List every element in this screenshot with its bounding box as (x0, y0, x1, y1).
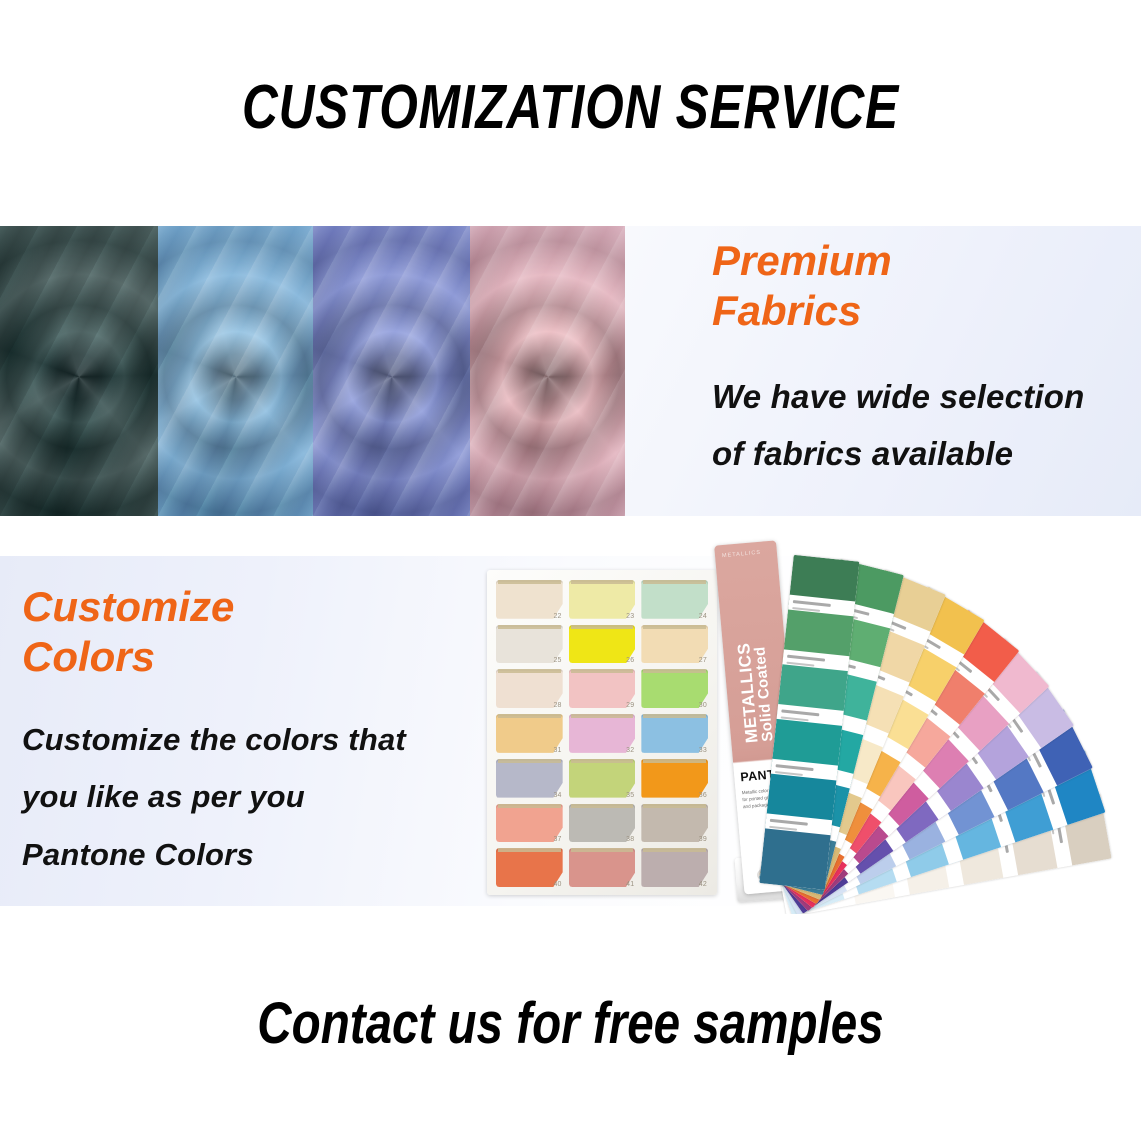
swatch-chip-tab (571, 759, 634, 763)
swatch-chip: 31 (496, 714, 563, 753)
swatch-chip: 35 (569, 759, 636, 798)
swatch-chip: 41 (569, 848, 636, 887)
fabric-swatch-periwinkle (313, 226, 470, 516)
color-swatch-card: 2223242526272829303132333435363738394041… (487, 570, 717, 895)
premium-fabrics-body-line1: We have wide selection (712, 369, 1132, 426)
swatch-chip-tab (498, 714, 561, 718)
swatch-chip: 30 (641, 669, 708, 708)
swatch-chip-tab (498, 759, 561, 763)
swatch-chip-tab (498, 804, 561, 808)
swatch-chip: 42 (641, 848, 708, 887)
swatch-chip: 37 (496, 804, 563, 843)
swatch-chip: 39 (641, 804, 708, 843)
swatch-chip-number: 37 (553, 836, 561, 842)
swatch-chip-tab (498, 669, 561, 673)
swatch-chip-tab (571, 669, 634, 673)
swatch-chip-number: 26 (626, 657, 634, 663)
swatch-chip-number: 29 (626, 702, 634, 708)
swatch-chip-tab (571, 804, 634, 808)
premium-fabrics-body-line2: of fabrics available (712, 426, 1132, 483)
swatch-chip-number: 25 (553, 657, 561, 663)
fabric-swatch-strip (0, 226, 625, 516)
swatch-chip-tab (643, 669, 706, 673)
customize-colors-heading: Customize Colors (22, 582, 492, 681)
customize-colors-heading-line2: Colors (22, 632, 492, 682)
fabric-swatch-pink (470, 226, 625, 516)
pantone-fan-deck: METALLICS METALLICS Solid Coated PANTONE… (700, 534, 1141, 914)
customize-colors-copy: Customize Colors Customize the colors th… (22, 582, 492, 883)
swatch-chip-number: 34 (553, 792, 561, 798)
premium-fabrics-section: Premium Fabrics We have wide selection o… (0, 226, 1141, 516)
swatch-chip-tab (498, 580, 561, 584)
swatch-chip-number: 28 (553, 702, 561, 708)
swatch-chip: 29 (569, 669, 636, 708)
swatch-chip-tab (643, 759, 706, 763)
swatch-chip: 26 (569, 625, 636, 664)
customize-colors-body: Customize the colors that you like as pe… (22, 711, 492, 883)
fan-deck-color-strip (759, 828, 830, 890)
swatch-chip-tab (643, 804, 706, 808)
fabric-swatch-dark-teal (0, 226, 158, 516)
swatch-chip-number: 41 (626, 881, 634, 887)
swatch-chip: 34 (496, 759, 563, 798)
swatch-chip: 23 (569, 580, 636, 619)
customize-colors-body-line3: Pantone Colors (22, 826, 492, 883)
customize-colors-heading-line1: Customize (22, 582, 492, 632)
swatch-chip-grid: 2223242526272829303132333435363738394041… (496, 580, 708, 887)
swatch-chip-number: 22 (553, 613, 561, 619)
swatch-chip-tab (498, 848, 561, 852)
swatch-chip: 25 (496, 625, 563, 664)
swatch-chip-tab (571, 714, 634, 718)
swatch-chip-number: 35 (626, 792, 634, 798)
swatch-chip-tab (498, 625, 561, 629)
swatch-chip: 22 (496, 580, 563, 619)
premium-fabrics-heading: Premium Fabrics (712, 236, 1132, 335)
swatch-chip-number: 38 (626, 836, 634, 842)
cover-top-label: METALLICS (722, 550, 762, 559)
swatch-chip-tab (643, 580, 706, 584)
swatch-chip: 32 (569, 714, 636, 753)
page-title: CUSTOMIZATION SERVICE (114, 72, 1027, 143)
swatch-chip-number: 32 (626, 747, 634, 753)
footer-cta: Contact us for free samples (103, 990, 1039, 1057)
promo-banner: CUSTOMIZATION SERVICE Premium Fabrics W (0, 0, 1141, 1142)
premium-fabrics-heading-line1: Premium (712, 236, 1132, 286)
swatch-chip-tab (643, 625, 706, 629)
swatch-chip-tab (643, 848, 706, 852)
swatch-chip: 24 (641, 580, 708, 619)
swatch-chip: 36 (641, 759, 708, 798)
swatch-chip-number: 31 (553, 747, 561, 753)
swatch-chip: 40 (496, 848, 563, 887)
swatch-chip-number: 23 (626, 613, 634, 619)
swatch-chip: 33 (641, 714, 708, 753)
premium-fabrics-body: We have wide selection of fabrics availa… (712, 369, 1132, 483)
swatch-chip: 38 (569, 804, 636, 843)
swatch-chip-tab (643, 714, 706, 718)
swatch-chip: 28 (496, 669, 563, 708)
customize-colors-body-line2: you like as per you (22, 768, 492, 825)
swatch-chip: 27 (641, 625, 708, 664)
fabric-swatch-light-blue (158, 226, 313, 516)
premium-fabrics-copy: Premium Fabrics We have wide selection o… (712, 236, 1132, 483)
swatch-chip-tab (571, 580, 634, 584)
swatch-chip-number: 40 (553, 881, 561, 887)
swatch-chip-tab (571, 625, 634, 629)
cover-vertical-title: METALLICS Solid Coated (731, 591, 777, 743)
swatch-chip-tab (571, 848, 634, 852)
premium-fabrics-heading-line2: Fabrics (712, 286, 1132, 336)
customize-colors-body-line1: Customize the colors that (22, 711, 492, 768)
